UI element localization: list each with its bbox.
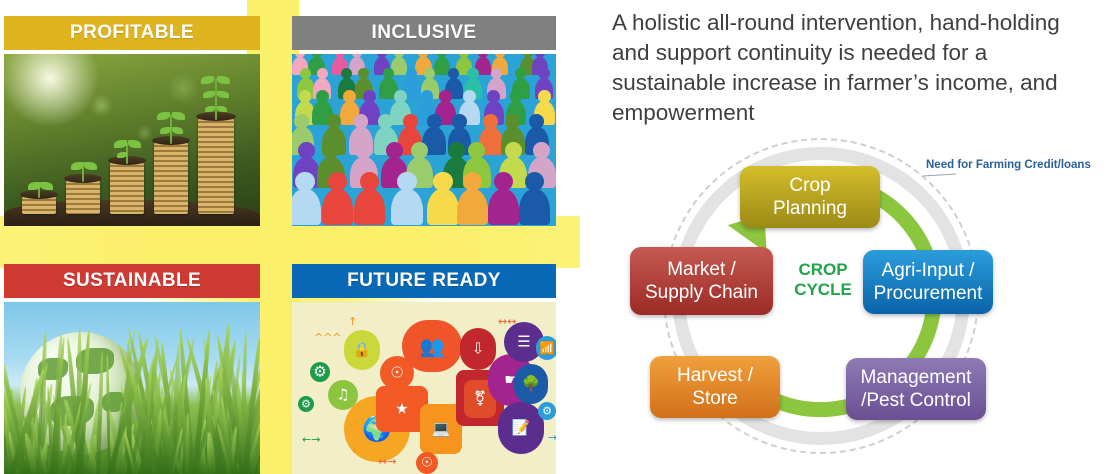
cycle-center-line1: CROP [773, 260, 873, 280]
lock-icon: 🔒 [344, 330, 380, 370]
arrow-right-icon: ↔↔ [498, 316, 516, 327]
sun-icon: ☉ [416, 452, 438, 474]
right-panel: A holistic all-round intervention, hand-… [600, 0, 1110, 474]
quadrant-future-ready[interactable]: FUTURE READY ⚙ ⚙ ♫ 🔒 🌍 ☉ ★ 👥 💻 ⇩ ✉ ⚧ ☛ [292, 264, 556, 474]
people-icon: 👥 [402, 320, 462, 372]
cycle-stage-harvest-line2: Store [692, 388, 737, 409]
cycle-stage-crop-planning-line1: Crop [789, 175, 830, 196]
cycle-stage-crop-planning-line2: Planning [773, 198, 847, 219]
arrow-up-icon: ^^^ [314, 332, 342, 343]
quadrant-profitable[interactable]: PROFITABLE [4, 16, 260, 226]
quadrant-inclusive[interactable]: INCLUSIVE [292, 16, 556, 226]
quadrant-inclusive-label: INCLUSIVE [292, 16, 556, 50]
cycle-stage-market[interactable]: Market / Supply Chain [630, 247, 773, 315]
headline-text: A holistic all-round intervention, hand-… [612, 8, 1082, 128]
cycle-stage-market-line2: Supply Chain [645, 282, 758, 303]
paper-person-icon [354, 172, 385, 225]
arrow-right-icon: ↔→ [378, 456, 396, 467]
paper-person-icon [488, 172, 519, 225]
quadrant-profitable-image [4, 54, 260, 226]
cycle-center-label: CROP CYCLE [773, 260, 873, 300]
arrow-right-icon: → [548, 432, 556, 443]
slide-root: PROFITABLE [0, 0, 1110, 474]
cycle-stage-agri-input-line2: Procurement [874, 283, 983, 304]
quadrant-profitable-label: PROFITABLE [4, 16, 260, 50]
quadrant-inclusive-image [292, 54, 556, 226]
crop-cycle-diagram: Need for Farming Credit/loans Crop Plann… [608, 130, 1108, 474]
four-pillar-quadrant-panel: PROFITABLE [0, 0, 580, 474]
arrow-up-icon: ^^ [542, 352, 556, 363]
gear-icon: ⚙ [310, 362, 330, 382]
gear-icon: ⚙ [298, 396, 314, 412]
cycle-stage-crop-planning[interactable]: Crop Planning [740, 166, 880, 228]
paper-person-icon [322, 172, 353, 225]
paper-person-icon [519, 172, 550, 225]
cycle-stage-management-line1: Management [861, 367, 972, 388]
cycle-stage-harvest[interactable]: Harvest / Store [650, 356, 780, 418]
tree-icon: 🌳 [514, 364, 548, 404]
cycle-center-line2: CYCLE [773, 280, 873, 300]
quadrant-sustainable[interactable]: SUSTAINABLE [4, 264, 260, 474]
quadrant-future-ready-label: FUTURE READY [292, 264, 556, 298]
cycle-stage-management-line2: /Pest Control [861, 390, 971, 411]
paper-person-icon [457, 172, 488, 225]
cycle-stage-management[interactable]: Management /Pest Control [846, 358, 986, 420]
callout-label: Need for Farming Credit/loans [926, 158, 1110, 172]
arrow-down-icon: ∨∨ [444, 444, 460, 455]
paper-person-icon [391, 172, 422, 225]
paper-person-icon [427, 172, 458, 225]
cycle-stage-harvest-line1: Harvest / [677, 365, 753, 386]
arrow-left-icon: ←→ [302, 434, 320, 445]
gear-icon: ⚙ [538, 402, 556, 420]
quadrant-future-ready-image: ⚙ ⚙ ♫ 🔒 🌍 ☉ ★ 👥 💻 ⇩ ✉ ⚧ ☛ ☰ 📝 🌳 📶 [292, 302, 556, 474]
quadrant-sustainable-image [4, 302, 260, 474]
cycle-stage-agri-input[interactable]: Agri-Input / Procurement [863, 250, 993, 314]
cycle-stage-agri-input-line1: Agri-Input / [882, 260, 975, 281]
paper-person-icon [292, 172, 321, 225]
quadrant-sustainable-label: SUSTAINABLE [4, 264, 260, 298]
arrow-up-icon: ↑ [348, 316, 357, 327]
cycle-stage-market-line1: Market / [667, 259, 736, 280]
grass-blade [185, 413, 190, 474]
arrow-down-icon: ↓ [350, 444, 359, 455]
